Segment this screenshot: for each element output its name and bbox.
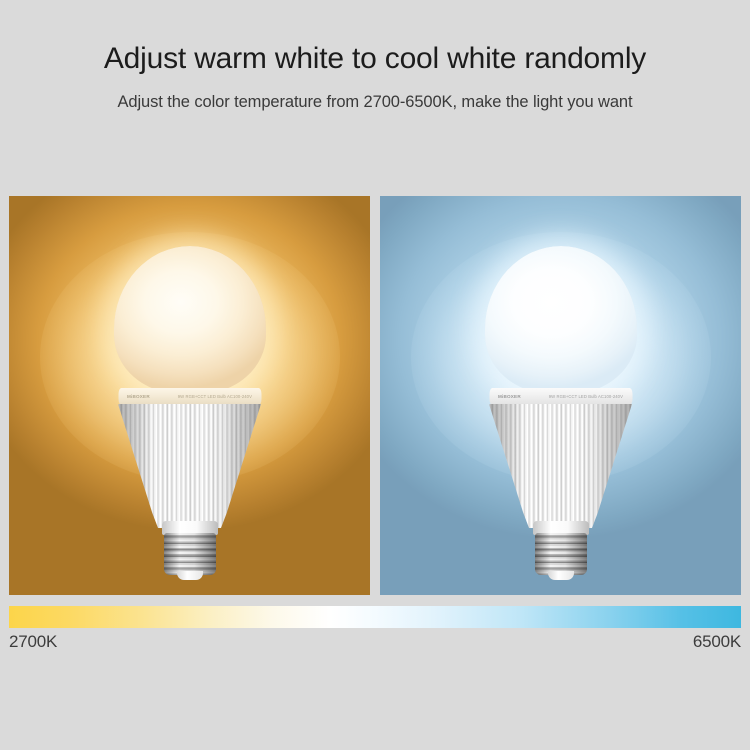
bulb-heatsink xyxy=(118,404,261,528)
panel-cool-white: MiBOXER 9W RGB+CCT LED Bulb AC100-240V xyxy=(380,196,741,595)
comparison-panels: MiBOXER 9W RGB+CCT LED Bulb AC100-240V M… xyxy=(9,196,741,595)
header: Adjust warm white to cool white randomly… xyxy=(0,0,750,112)
bulb-base-tip xyxy=(177,571,203,580)
bulb-dome xyxy=(114,246,266,394)
color-temperature-gradient-bar xyxy=(9,606,741,628)
bulb-dome xyxy=(485,246,637,394)
bulb-base-tip xyxy=(548,571,574,580)
bulb-heatsink-shading xyxy=(489,404,632,528)
color-temperature-labels: 2700K 6500K xyxy=(9,632,741,652)
led-bulb-warm: MiBOXER 9W RGB+CCT LED Bulb AC100-240V xyxy=(110,218,270,578)
bulb-brand-text: MiBOXER xyxy=(498,394,521,399)
led-bulb-cool: MiBOXER 9W RGB+CCT LED Bulb AC100-240V xyxy=(481,218,641,578)
page-subheadline: Adjust the color temperature from 2700-6… xyxy=(0,93,750,112)
bulb-e27-screw-base xyxy=(535,533,587,575)
cct-min-label: 2700K xyxy=(9,632,57,652)
bulb-heatsink xyxy=(489,404,632,528)
bulb-e27-screw-base xyxy=(164,533,216,575)
cct-max-label: 6500K xyxy=(693,632,741,652)
bulb-spec-text: 9W RGB+CCT LED Bulb AC100-240V xyxy=(549,394,623,399)
bulb-brand-text: MiBOXER xyxy=(127,394,150,399)
panel-warm-white: MiBOXER 9W RGB+CCT LED Bulb AC100-240V xyxy=(9,196,370,595)
page-headline: Adjust warm white to cool white randomly xyxy=(0,42,750,76)
bulb-spec-text: 9W RGB+CCT LED Bulb AC100-240V xyxy=(178,394,252,399)
bulb-label-collar: MiBOXER 9W RGB+CCT LED Bulb AC100-240V xyxy=(489,388,632,405)
bulb-label-collar: MiBOXER 9W RGB+CCT LED Bulb AC100-240V xyxy=(118,388,261,405)
bulb-heatsink-shading xyxy=(118,404,261,528)
